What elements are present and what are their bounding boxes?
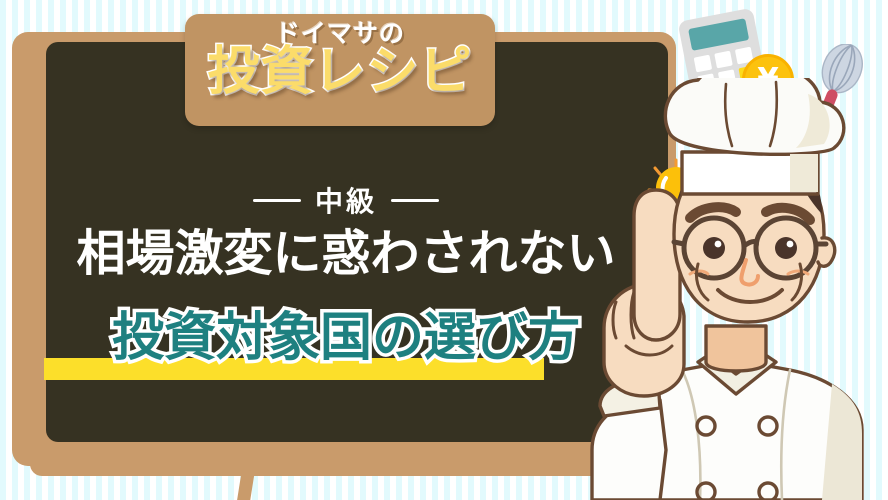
thumbnail-canvas: 中級 相場激変に惑わされない 投資対象国の選び方 ドイマサの 投資レシピ ¥ <box>0 0 888 500</box>
level-rule-right-icon <box>391 199 439 202</box>
blackboard-tray <box>30 456 682 476</box>
level-label: 中級 <box>315 180 377 220</box>
subhead-wrap: 投資対象国の選び方 <box>46 310 646 367</box>
level-row: 中級 <box>56 180 636 220</box>
level-rule-left-icon <box>253 199 301 202</box>
headline-text: 相場激変に惑わされない <box>46 228 646 279</box>
series-banner: ドイマサの 投資レシピ <box>185 14 495 126</box>
subhead-text: 投資対象国の選び方 <box>112 310 580 367</box>
chef-character-illustration <box>586 78 888 500</box>
banner-title-text: 投資レシピ <box>207 46 472 98</box>
